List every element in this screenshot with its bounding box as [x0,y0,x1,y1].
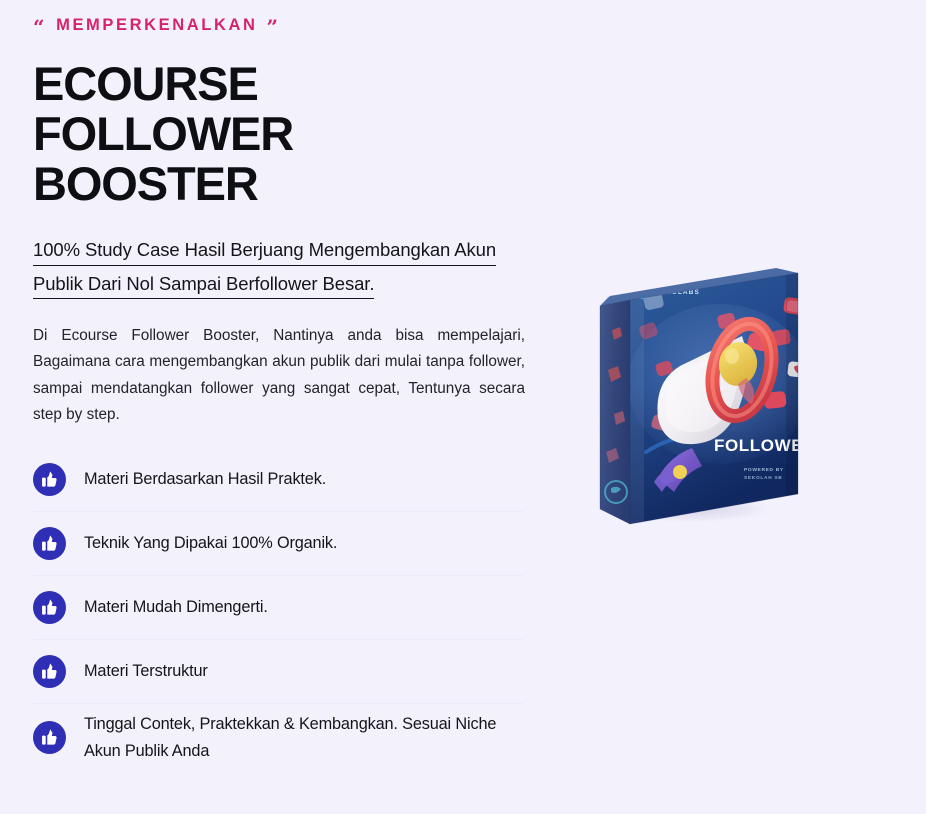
list-item: Materi Mudah Dimengerti. [33,576,523,640]
product-box-footer-line2: SEKOLAH SB [744,475,782,481]
subheadline-line-1: 100% Study Case Hasil Berjuang Mengemban… [33,237,496,265]
landing-hero-section: “ MEMPERKENALKAN ” ECOURSE FOLLOWER BOOS… [0,0,926,814]
list-item: Tinggal Contek, Praktekkan & Kembangkan.… [33,704,523,772]
hero-text-column: “ MEMPERKENALKAN ” ECOURSE FOLLOWER BOOS… [33,0,533,429]
headline-line-3: BOOSTER [33,159,533,209]
feature-label: Tinggal Contek, Praktekkan & Kembangkan.… [84,711,523,765]
page-title: ECOURSE FOLLOWER BOOSTER [33,59,533,210]
thumbs-up-icon [33,527,66,560]
quote-close-icon: ” [267,21,281,33]
list-item: Teknik Yang Dipakai 100% Organik. [33,512,523,576]
subheadline: 100% Study Case Hasil Berjuang Mengemban… [33,237,505,299]
product-box-footer-line1: POWERED BY [744,467,784,473]
headline-line-2: FOLLOWER [33,109,533,159]
list-item: Materi Berdasarkan Hasil Praktek. [33,448,523,512]
thumbs-up-icon [33,721,66,754]
quote-open-icon: “ [33,21,47,33]
feature-label: Materi Terstruktur [84,658,208,685]
thumbs-up-icon [33,463,66,496]
subheadline-line-2: Publik Dari Nol Sampai Berfollower Besar… [33,271,374,299]
feature-label: Materi Berdasarkan Hasil Praktek. [84,466,326,493]
eyebrow-label: “ MEMPERKENALKAN ” [33,17,533,34]
headline-line-1: ECOURSE [33,59,533,109]
thumbs-up-icon [33,591,66,624]
hero-paragraph: Di Ecourse Follower Booster, Nantinya an… [33,323,525,429]
thumbs-up-icon [33,655,66,688]
eyebrow-text: MEMPERKENALKAN [56,17,257,34]
feature-label: Teknik Yang Dipakai 100% Organik. [84,530,337,557]
product-box-image: FOLLOWER BOOSTER SEKOLABS POWERED BY SEK… [596,266,864,538]
list-item: Materi Terstruktur [33,640,523,704]
feature-label: Materi Mudah Dimengerti. [84,594,268,621]
feature-list: Materi Berdasarkan Hasil Praktek. Teknik… [33,448,523,772]
